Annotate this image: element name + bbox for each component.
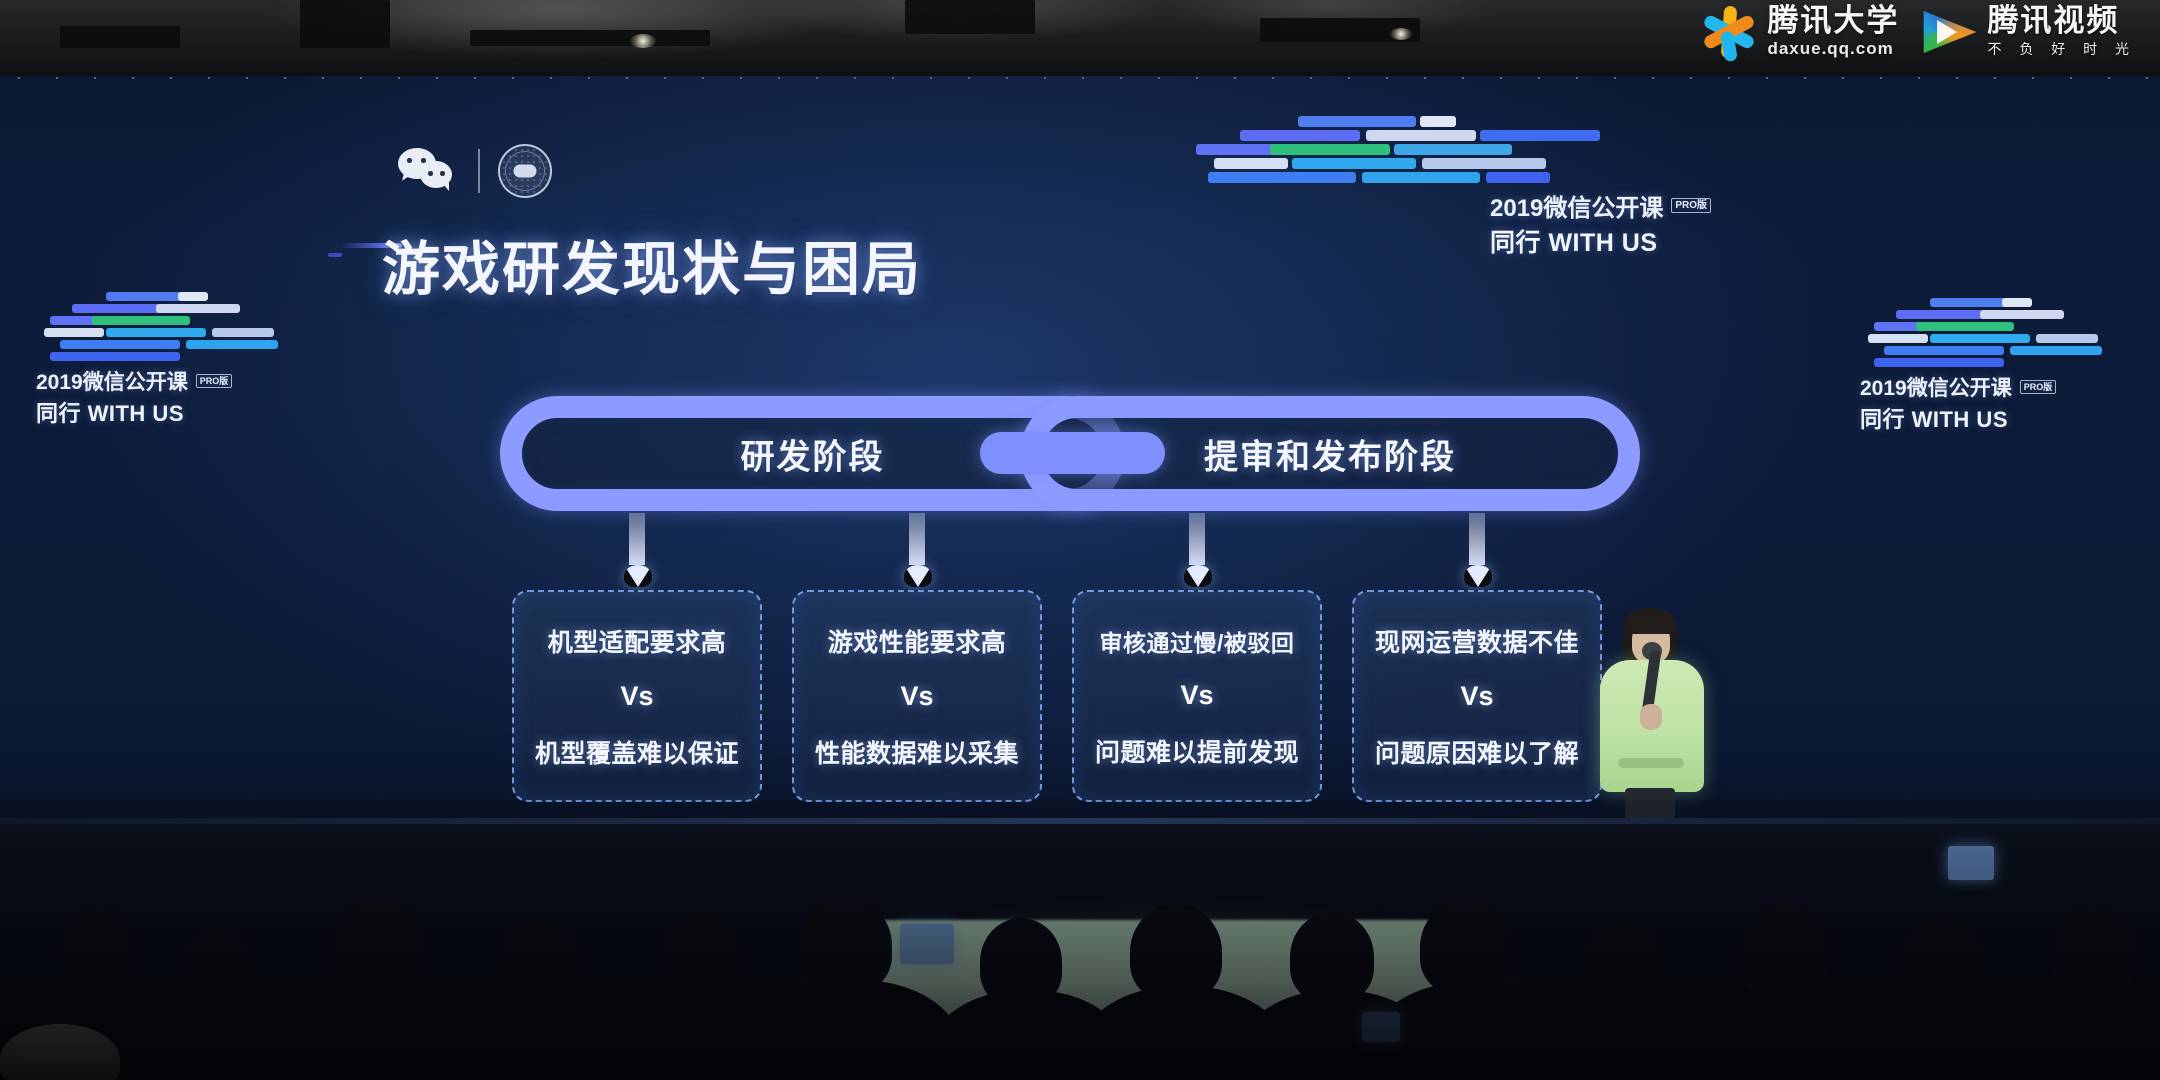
presenter-figure	[1592, 608, 1710, 838]
down-arrow	[1184, 513, 1210, 565]
watermark-title: 2019微信公开课	[1490, 188, 1663, 223]
down-arrow	[624, 513, 650, 565]
issue-card-vs-label: Vs	[900, 681, 933, 712]
slide-logo-row	[398, 144, 552, 198]
ceiling-lamp	[1390, 28, 1412, 40]
watermark-right: 2019微信公开课 PRO版 同行 WITH US	[1860, 298, 2140, 434]
issue-card-bottom-text: 性能数据难以采集	[815, 734, 1019, 770]
broadcaster-logo-bar: 腾讯大学 daxue.qq.com 腾讯视频 不 负 好 时 光	[1701, 4, 2136, 60]
watermark-pro-badge: PRO版	[2020, 380, 2057, 394]
wechat-logo-icon	[398, 148, 460, 194]
issue-card: 机型适配要求高 Vs 机型覆盖难以保证	[512, 590, 762, 802]
issue-card-bottom-text: 问题原因难以了解	[1375, 734, 1579, 770]
watermark-pro-badge: PRO版	[1671, 198, 1711, 214]
issue-card-vs-label: Vs	[1180, 680, 1213, 711]
tencent-video-name: 腾讯视频	[1987, 5, 2136, 38]
watermark-left: 2019微信公开课 PRO版 同行 WITH US	[36, 292, 316, 428]
watermark-subtitle: 同行 WITH US	[1860, 402, 2140, 434]
logo-divider	[478, 149, 480, 193]
tencent-university-star-icon	[1701, 4, 1757, 60]
tencent-university-url: daxue.qq.com	[1767, 39, 1899, 59]
partner-circular-badge-icon	[498, 144, 552, 198]
issue-card-vs-label: Vs	[620, 681, 653, 712]
chain-diagram: 研发阶段 提审和发布阶段	[500, 396, 1640, 511]
screenshot-root: 腾讯大学 daxue.qq.com 腾讯视频 不 负 好 时 光	[0, 0, 2160, 1080]
issue-card-bottom-text: 问题难以提前发现	[1095, 733, 1299, 769]
issue-card: 游戏性能要求高 Vs 性能数据难以采集	[792, 590, 1042, 802]
ceiling-beam	[470, 30, 710, 46]
issue-card-bottom-text: 机型覆盖难以保证	[535, 734, 739, 770]
down-arrow	[1464, 513, 1490, 565]
stage-edge	[0, 818, 2160, 824]
watermark-title: 2019微信公开课	[1860, 372, 2012, 402]
screen-led-strip	[0, 76, 2160, 80]
page-title: 游戏研发现状与困局	[382, 222, 922, 306]
tencent-university-logo: 腾讯大学 daxue.qq.com	[1701, 4, 1899, 60]
watermark-subtitle: 同行 WITH US	[1490, 223, 1720, 259]
ceiling-beam	[300, 0, 390, 48]
issue-card: 审核通过慢/被驳回 Vs 问题难以提前发现	[1072, 590, 1322, 802]
ceiling-lamp	[630, 34, 656, 48]
ceiling-beam	[905, 0, 1035, 34]
tencent-video-logo: 腾讯视频 不 负 好 时 光	[1921, 5, 2136, 59]
issue-card: 现网运营数据不佳 Vs 问题原因难以了解	[1352, 590, 1602, 802]
watermark-top-right: 2019微信公开课 PRO版 同行 WITH US	[1180, 114, 1720, 259]
tencent-video-play-icon	[1921, 7, 1977, 57]
issue-card-vs-label: Vs	[1460, 681, 1493, 712]
issue-card-top-text: 机型适配要求高	[548, 623, 727, 659]
issue-card-top-text: 游戏性能要求高	[828, 623, 1007, 659]
watermark-pro-badge: PRO版	[196, 374, 233, 388]
ceiling-beam	[60, 26, 180, 48]
issue-card-top-text: 审核通过慢/被驳回	[1100, 624, 1295, 658]
watermark-title: 2019微信公开课	[36, 366, 188, 396]
stage-panel-text: WeC	[950, 1000, 1158, 1080]
tencent-university-name: 腾讯大学	[1767, 5, 1899, 38]
watermark-subtitle: 同行 WITH US	[36, 396, 316, 428]
tencent-video-slogan: 不 负 好 时 光	[1987, 39, 2136, 59]
issue-card-top-text: 现网运营数据不佳	[1375, 623, 1579, 659]
chain-connector	[980, 432, 1165, 474]
down-arrow	[904, 513, 930, 565]
presentation-screen: 游戏研发现状与困局 2019微信公开课 PRO版	[0, 76, 2160, 818]
